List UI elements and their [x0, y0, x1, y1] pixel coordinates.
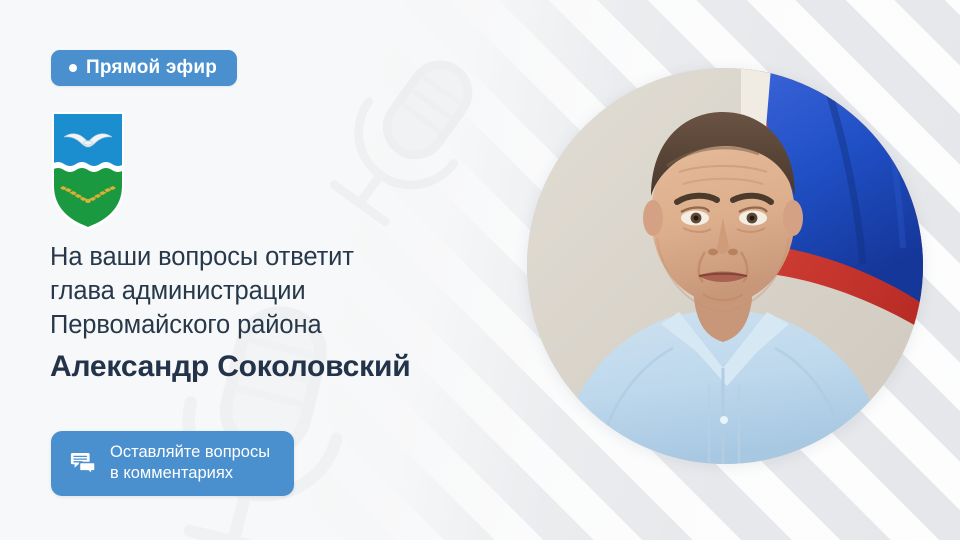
live-badge[interactable]: Прямой эфир — [51, 50, 237, 86]
left-content-column: Прямой эфир — [48, 0, 518, 540]
headline-line-2: глава администрации — [50, 274, 490, 308]
portrait-photo — [527, 68, 923, 464]
headline-line-3: Первомайского района — [50, 308, 490, 342]
leave-questions-label: Оставляйте вопросы в комментариях — [110, 442, 270, 484]
live-badge-label: Прямой эфир — [86, 58, 217, 77]
comments-icon — [70, 450, 96, 476]
coat-of-arms-icon — [52, 112, 124, 230]
headline: На ваши вопросы ответит глава администра… — [50, 240, 490, 342]
cta-line-1: Оставляйте вопросы — [110, 442, 270, 463]
person-name: Александр Соколовский — [50, 348, 510, 386]
cta-line-2: в комментариях — [110, 463, 270, 484]
broadcast-announcement-banner: Прямой эфир — [0, 0, 960, 540]
live-dot-icon — [69, 64, 77, 72]
leave-questions-button[interactable]: Оставляйте вопросы в комментариях — [51, 431, 294, 496]
headline-line-1: На ваши вопросы ответит — [50, 240, 490, 274]
